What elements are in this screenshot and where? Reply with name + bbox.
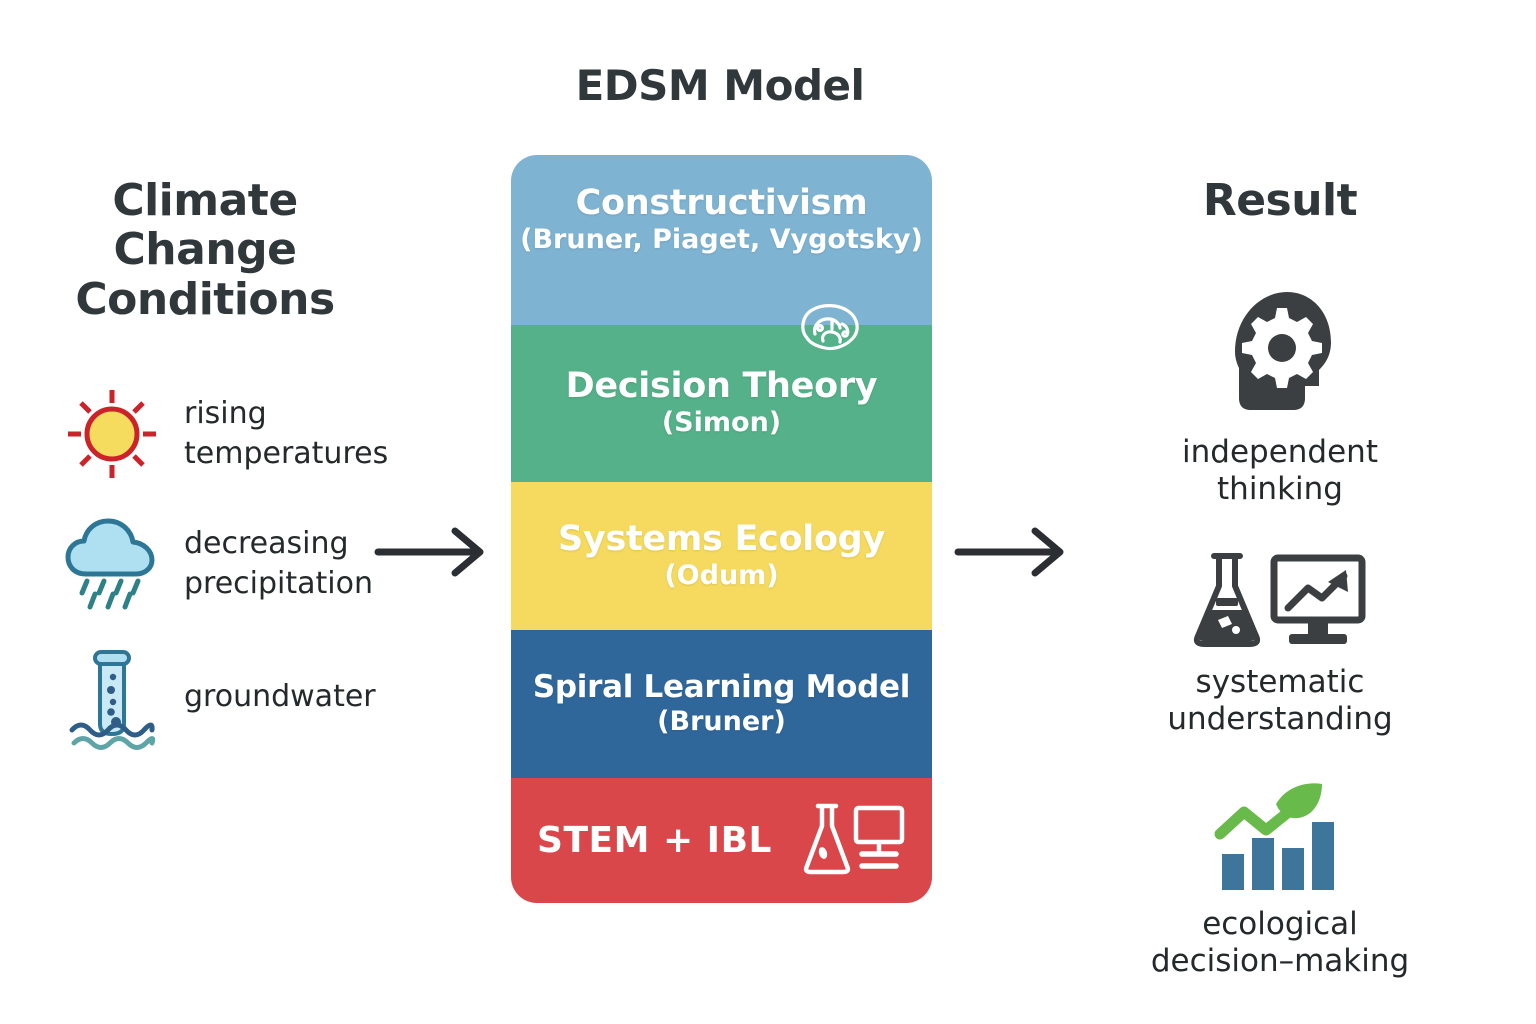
condition-item-groundwater: groundwater — [60, 645, 460, 749]
page-title: EDSM Model — [520, 62, 920, 109]
stack-layer-title: Decision Theory — [566, 368, 878, 406]
left-heading-line-2: Change — [20, 225, 390, 274]
stack-layer-spiral-learning-model[interactable]: Spiral Learning Model (Bruner) — [511, 630, 932, 778]
left-heading-line-1: Climate — [20, 176, 390, 225]
result-label-line-1: ecological — [1151, 906, 1409, 943]
condition-label: groundwater — [184, 677, 376, 718]
result-label: independent thinking — [1182, 434, 1378, 508]
result-label: systematic understanding — [1167, 664, 1392, 738]
groundwater-test-tube-icon — [60, 645, 164, 749]
stack-layer-decision-theory[interactable]: Decision Theory (Simon) — [511, 325, 932, 482]
stack-layer-subtitle: (Simon) — [662, 408, 781, 438]
rain-cloud-icon — [60, 512, 164, 616]
stack-layer-title: STEM + IBL — [537, 820, 772, 861]
stack-layer-stem-ibl[interactable]: STEM + IBL — [511, 778, 932, 903]
result-item-independent-thinking: independent thinking — [1080, 282, 1480, 508]
stack-layer-systems-ecology[interactable]: Systems Ecology (Odum) — [511, 482, 932, 630]
brain-icon — [798, 300, 862, 360]
condition-label: rising temperatures — [184, 394, 388, 475]
result-label: ecological decision–making — [1151, 906, 1409, 980]
left-heading-line-3: Conditions — [20, 275, 390, 324]
stack-layer-title: Systems Ecology — [558, 521, 885, 559]
stack-layer-title: Spiral Learning Model — [533, 671, 910, 704]
condition-label-line-1: rising — [184, 394, 388, 435]
result-label-line-2: thinking — [1182, 471, 1378, 508]
condition-label-line-1: groundwater — [184, 677, 376, 718]
stack-layer-subtitle: (Odum) — [664, 561, 778, 591]
condition-label-line-2: temperatures — [184, 434, 388, 475]
flask-chart-monitor-icon — [1188, 548, 1372, 652]
diagram-canvas: EDSM Model Climate Change Conditions Res… — [0, 0, 1536, 1024]
edsm-model-stack: Constructivism (Bruner, Piaget, Vygotsky… — [511, 155, 932, 903]
arrow-conditions-to-model — [372, 522, 492, 586]
result-label-line-1: systematic — [1167, 664, 1392, 701]
result-item-ecological-decision-making: ecological decision–making — [1080, 782, 1480, 980]
result-item-systematic-understanding: systematic understanding — [1080, 548, 1480, 738]
condition-label-line-2: precipitation — [184, 564, 373, 605]
right-column-heading: Result — [1100, 176, 1460, 225]
growth-bar-chart-leaf-icon — [1210, 782, 1350, 894]
result-label-line-2: understanding — [1167, 701, 1392, 738]
stack-layer-subtitle: (Bruner, Piaget, Vygotsky) — [520, 225, 923, 255]
condition-label-line-1: decreasing — [184, 524, 373, 565]
result-label-line-1: independent — [1182, 434, 1378, 471]
head-gear-icon — [1221, 282, 1339, 422]
sun-icon — [60, 382, 164, 486]
left-column-heading: Climate Change Conditions — [20, 176, 390, 324]
condition-label: decreasing precipitation — [184, 524, 373, 605]
result-label-line-2: decision–making — [1151, 943, 1409, 980]
stack-layer-constructivism[interactable]: Constructivism (Bruner, Piaget, Vygotsky… — [511, 155, 932, 325]
flask-monitor-icon — [798, 800, 906, 882]
stack-layer-subtitle: (Bruner) — [657, 707, 786, 737]
arrow-model-to-result — [952, 522, 1072, 586]
stack-layer-title: Constructivism — [576, 185, 868, 223]
condition-item-rising-temperatures: rising temperatures — [60, 382, 460, 486]
